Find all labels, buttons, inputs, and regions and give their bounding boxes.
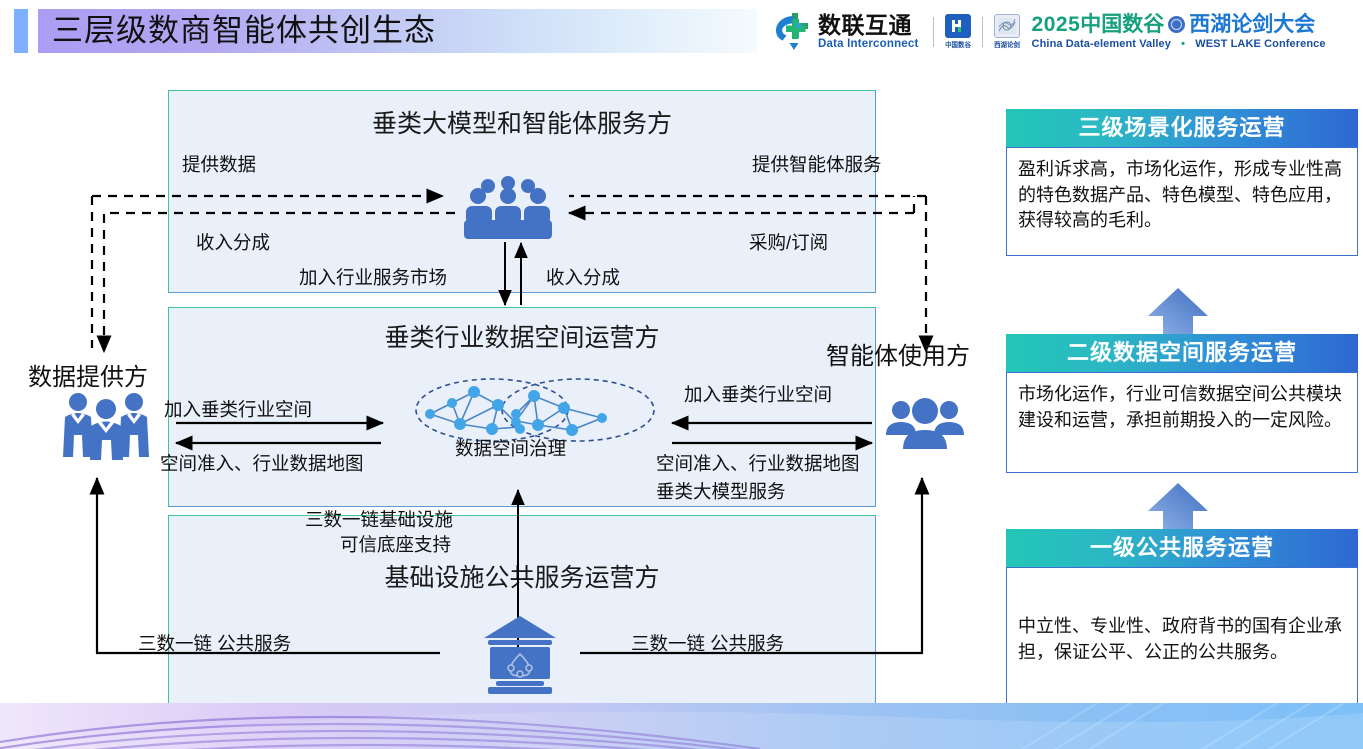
level-up-arrow-2: [1148, 483, 1208, 529]
label-space-access-right: 空间准入、行业数据地图: [656, 450, 860, 476]
label-revenue-share-center: 收入分成: [546, 264, 620, 290]
level-up-arrow-1: [1148, 288, 1208, 334]
level-card-3: 三级场景化服务运营 盈利诉求高，市场化运作，形成专业性高的特色数据产品、特色模型…: [1006, 109, 1358, 256]
data-interconnect-logo-icon: [770, 10, 814, 54]
label-public-service-right: 三数一链 公共服务: [631, 630, 784, 656]
west-lake-glyph-icon: [997, 17, 1017, 35]
data-provider-people-icon: [60, 389, 152, 466]
brand-divider-2: [982, 17, 983, 47]
label-public-service-left: 三数一链 公共服务: [138, 630, 291, 656]
label-provide-agent-service: 提供智能体服务: [752, 151, 882, 177]
label-purchase-subscribe: 采购/订阅: [749, 229, 828, 255]
branding-bar: 数联互通 Data Interconnect 中国数谷: [770, 8, 1326, 56]
actor-label-agent-user: 智能体使用方: [826, 336, 970, 371]
conference-en-separator: •: [1181, 38, 1185, 50]
slide-root: 三层级数商智能体共创生态 数联互通 Data Interconnect: [0, 0, 1363, 749]
level-card-3-title: 三级场景化服务运营: [1006, 109, 1358, 147]
panel-middle-title: 垂类行业数据空间运营方: [168, 318, 876, 354]
conference-name-cn: 中国数谷: [1080, 14, 1164, 36]
level-card-1: 一级公共服务运营 中立性、专业性、政府背书的国有企业承担，保证公平、公正的公共服…: [1006, 529, 1358, 713]
page-title: 三层级数商智能体共创生态: [52, 9, 436, 53]
footer-decoration: [0, 703, 1363, 749]
level-card-1-body: 中立性、专业性、政府背书的国有企业承担，保证公平、公正的公共服务。: [1006, 567, 1358, 713]
label-infra-line1: 三数一链基础设施: [305, 506, 453, 532]
label-revenue-share-left: 收入分成: [196, 229, 270, 255]
conference-en-left: China Data-element Valley: [1032, 38, 1171, 50]
mini-logo-west-lake: 西湖论剑: [992, 14, 1022, 50]
conference-en-right: WEST LAKE Conference: [1195, 38, 1325, 50]
conference-year: 2025: [1032, 14, 1081, 36]
label-infra-line2: 可信底座支持: [340, 531, 451, 557]
brand-name-en: Data Interconnect: [818, 38, 919, 51]
brand-divider: [933, 17, 934, 47]
label-space-access-left: 空间准入、行业数据地图: [160, 450, 364, 476]
data-valley-glyph-icon: [948, 17, 968, 35]
panel-top-title: 垂类大模型和智能体服务方: [168, 104, 876, 140]
label-join-industry-market: 加入行业服务市场: [299, 264, 447, 290]
label-join-vertical-space-right: 加入垂类行业空间: [684, 381, 832, 407]
label-join-vertical-space-left: 加入垂类行业空间: [164, 396, 312, 422]
label-vertical-model-service: 垂类大模型服务: [656, 478, 786, 504]
conference-name-cn2: 西湖论剑大会: [1189, 14, 1315, 36]
mini-logo-caption: 中国数谷: [945, 40, 971, 50]
panel-bottom-title: 基础设施公共服务运营方: [168, 558, 876, 594]
public-institution-icon: [480, 612, 560, 699]
actor-label-data-provider: 数据提供方: [28, 357, 148, 392]
agent-user-group-icon: [884, 395, 966, 460]
mini-logo-caption-2: 西湖论剑: [994, 40, 1020, 50]
mini-logo-china-data-valley: 中国数谷: [943, 14, 973, 50]
service-provider-group-icon: [458, 176, 558, 247]
brand-name-cn: 数联互通: [818, 14, 919, 38]
brand-wordmark: 数联互通 Data Interconnect: [818, 14, 919, 51]
level-card-2: 二级数据空间服务运营 市场化运作，行业可信数据空间公共模块建设和运营，承担前期投…: [1006, 334, 1358, 473]
west-lake-seal-icon: [1168, 16, 1185, 33]
level-card-3-body: 盈利诉求高，市场化运作，形成专业性高的特色数据产品、特色模型、特色应用，获得较高…: [1006, 147, 1358, 256]
level-card-2-title: 二级数据空间服务运营: [1006, 334, 1358, 372]
conference-title-block: 2025 中国数谷 西湖论剑大会 China Data-element Vall…: [1032, 14, 1326, 50]
label-center-governance: 数据空间治理: [455, 435, 566, 461]
label-provide-data: 提供数据: [182, 151, 256, 177]
level-card-2-body: 市场化运作，行业可信数据空间公共模块建设和运营，承担前期投入的一定风险。: [1006, 372, 1358, 473]
header-accent-bar: [14, 9, 28, 53]
level-card-1-title: 一级公共服务运营: [1006, 529, 1358, 567]
